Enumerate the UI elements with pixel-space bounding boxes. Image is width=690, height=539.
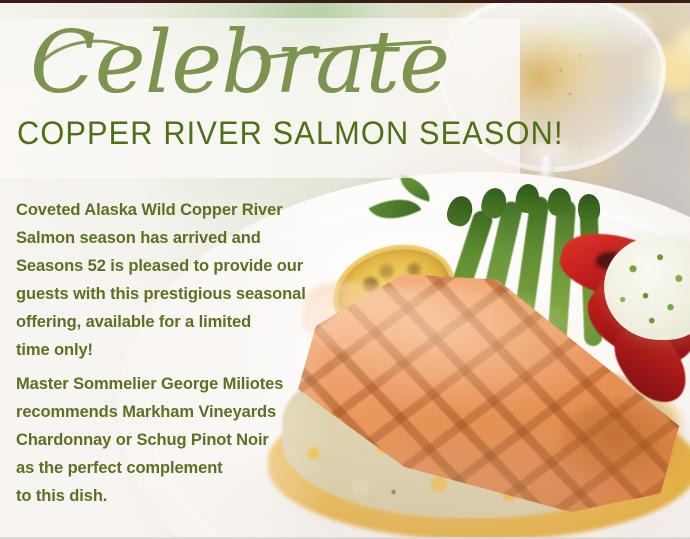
- paragraph-line: to this dish.: [16, 482, 296, 510]
- paragraph-line: Coveted Alaska Wild Copper River: [16, 196, 296, 224]
- banner-copy-layer: Celebrate COPPER RIVER SALMON SEASON! Co…: [0, 0, 690, 539]
- paragraph-line: Salmon season has arrived and: [16, 224, 296, 252]
- celebrate-script-text: Celebrate: [30, 13, 449, 113]
- paragraph-line: guests with this prestigious seasonal: [16, 280, 296, 308]
- paragraph-line: Seasons 52 is pleased to provide our: [16, 252, 296, 280]
- paragraph-line: recommends Markham Vineyards: [16, 398, 296, 426]
- sommelier-paragraph: Master Sommelier George Miliotes recomme…: [16, 370, 296, 510]
- offer-paragraph: Coveted Alaska Wild Copper River Salmon …: [16, 196, 296, 364]
- paragraph-line: as the perfect complement: [16, 454, 296, 482]
- celebrate-script-logo: Celebrate: [26, 18, 446, 114]
- celebrate-salmon-banner: Celebrate COPPER RIVER SALMON SEASON! Co…: [0, 0, 690, 539]
- paragraph-line: Chardonnay or Schug Pinot Noir: [16, 426, 296, 454]
- paragraph-line: time only!: [16, 336, 296, 364]
- page-headline: COPPER RIVER SALMON SEASON!: [17, 116, 564, 150]
- top-border-rule: [0, 0, 690, 3]
- paragraph-line: Master Sommelier George Miliotes: [16, 370, 296, 398]
- paragraph-line: offering, available for a limited: [16, 308, 296, 336]
